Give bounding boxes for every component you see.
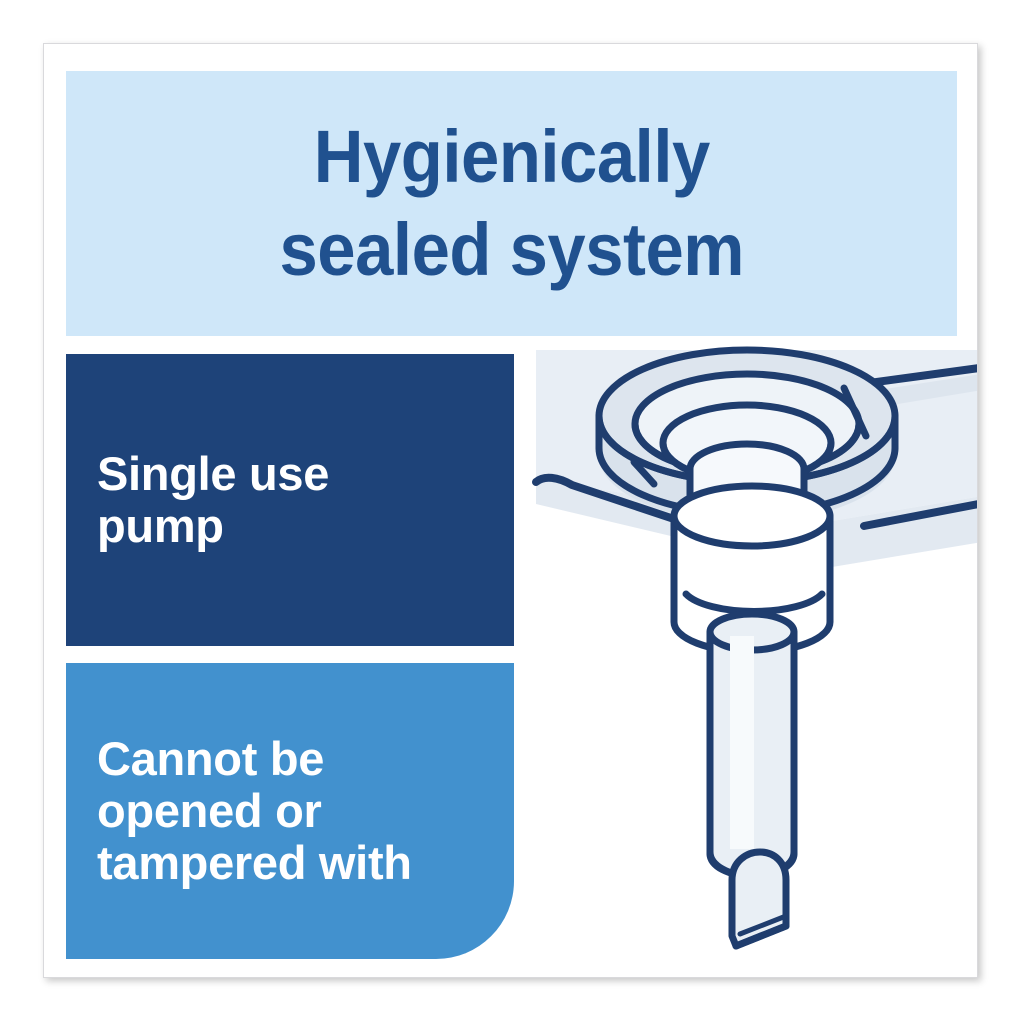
feature-label-single-use-pump: Single use pump [97,448,514,551]
illustration-container [514,344,978,978]
outlet-stem-highlight [730,636,754,849]
page-title: Hygienically sealed system [270,111,753,296]
infographic-card: Hygienically sealed system Single use pu… [43,43,978,978]
header-band: Hygienically sealed system [66,71,957,336]
feature-label-tamper-proof: Cannot be opened or tampered with [97,733,514,888]
pump-diagram-icon [514,344,978,978]
feature-panel-single-use-pump: Single use pump [66,354,514,646]
feature-panel-tamper-proof: Cannot be opened or tampered with [66,663,514,959]
